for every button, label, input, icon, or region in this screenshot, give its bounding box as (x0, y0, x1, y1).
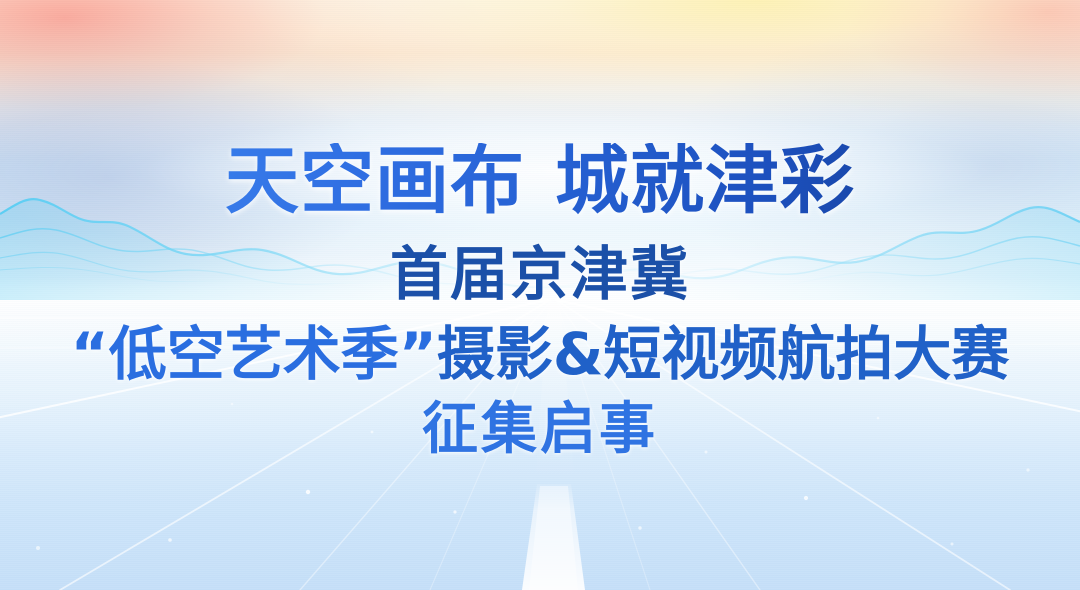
main-title-right: 城就津彩 (555, 138, 855, 224)
poster-text-content: 天空画布城就津彩 首届京津冀 “低空艺术季”摄影&短视频航拍大赛 征集启事 (0, 0, 1080, 590)
poster-canvas: 天空画布城就津彩 首届京津冀 “低空艺术季”摄影&短视频航拍大赛 征集启事 (0, 0, 1080, 590)
main-title: 天空画布城就津彩 (0, 143, 1080, 221)
subtitle-line-2-rest: 摄影&短视频航拍大赛 (437, 320, 1010, 388)
subtitle-line-3: 征集启事 (0, 400, 1080, 460)
subtitle-block: 首届京津冀 “低空艺术季”摄影&短视频航拍大赛 征集启事 (0, 243, 1080, 461)
subtitle-line-1: 首届京津冀 (0, 243, 1080, 306)
main-title-left: 天空画布 (225, 138, 525, 224)
subtitle-line-2-quoted: “低空艺术季” (71, 320, 437, 388)
subtitle-line-2: “低空艺术季”摄影&短视频航拍大赛 (0, 323, 1080, 386)
